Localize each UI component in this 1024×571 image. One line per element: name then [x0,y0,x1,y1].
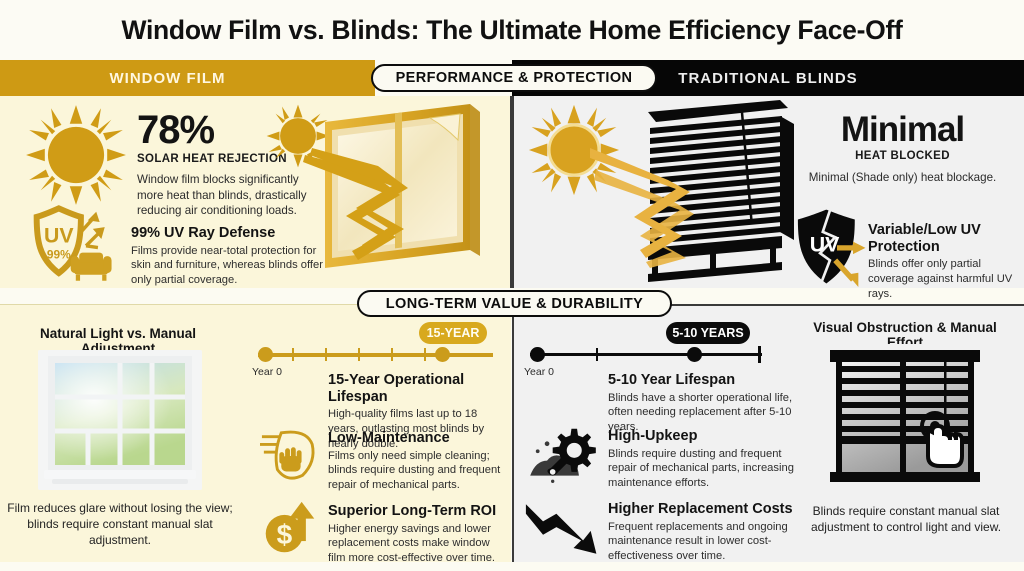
blinds-feature-1: 5-10 Year Lifespan Blinds have a shorter… [608,372,800,435]
sun-icon-film-large [24,103,128,207]
dollar-up-arrow-icon: $ [262,500,318,556]
film-timeline-start-label: Year 0 [252,366,282,378]
blinds-photo-caption: Blinds require constant manual slat adju… [800,503,1012,535]
blinds-manual-photo [820,344,990,494]
gear-wrench-dust-icon [528,425,598,485]
film-feature-1-title: 15-Year Operational Lifespan [328,372,503,405]
page-title: Window Film vs. Blinds: The Ultimate Hom… [122,15,903,46]
film-feature-3: Superior Long-Term ROI Higher energy sav… [328,503,503,566]
svg-text:UV: UV [44,223,74,247]
down-trend-arrow-icon [524,500,604,558]
page-title-bar: Window Film vs. Blinds: The Ultimate Hom… [0,0,1024,60]
film-timeline: Year 0 15-YEAR [258,340,493,370]
film-uv-block: 99% UV Ray Defense Films provide near-to… [131,225,331,288]
top-vertical-divider [510,96,512,288]
band-window-film: WINDOW FILM [0,60,375,96]
blinds-uv-body: Blinds offer only partial coverage again… [868,257,1018,301]
film-timeline-badge: 15-YEAR [419,322,487,344]
blinds-uv-title: Variable/Low UV Protection [868,222,1018,255]
svg-text:99%: 99% [47,248,71,262]
blinds-stat-body: Minimal (Shade only) heat blockage. [795,170,1010,186]
pill-performance-protection: PERFORMANCE & PROTECTION [371,64,657,92]
blinds-sun-rays [590,140,750,270]
blinds-feature-1-title: 5-10 Year Lifespan [608,372,800,389]
blinds-timeline: Year 0 5-10 YEARS [530,340,762,370]
blinds-stat-label: HEAT BLOCKED [795,150,1010,162]
band-window-film-label: WINDOW FILM [110,70,226,87]
uv-shield-icon-film: UV 99% [26,205,112,285]
film-feature-2-body: Films only need simple cleaning; blinds … [328,449,503,493]
film-stat-body: Window film blocks significantly more he… [137,172,325,219]
film-photo-caption: Film reduces glare without losing the vi… [6,500,234,549]
blinds-uv-block: Variable/Low UV Protection Blinds offer … [868,222,1018,302]
film-uv-title: 99% UV Ray Defense [131,225,331,242]
film-uv-body: Films provide near-total protection for … [131,244,331,288]
blinds-feature-3: Higher Replacement Costs Frequent replac… [608,501,798,564]
blinds-feature-2-title: High-Upkeep [608,428,798,445]
film-feature-3-body: Higher energy savings and lower replacem… [328,522,503,566]
blinds-timeline-start-label: Year 0 [524,366,554,378]
film-feature-2: Low-Maintenance Films only need simple c… [328,430,503,493]
blinds-feature-2-body: Blinds require dusting and frequent repa… [608,447,798,491]
band-traditional-blinds-label: TRADITIONAL BLINDS [678,70,857,87]
blinds-feature-3-title: Higher Replacement Costs [608,501,798,518]
pill-longterm-value: LONG-TERM VALUE & DURABILITY [357,290,672,317]
film-feature-3-title: Superior Long-Term ROI [328,503,503,520]
blinds-stat-number: Minimal [795,112,1010,147]
infographic-root: Window Film vs. Blinds: The Ultimate Hom… [0,0,1024,571]
film-feature-2-title: Low-Maintenance [328,430,503,447]
blinds-feature-3-body: Frequent replacements and ongoing mainte… [608,520,798,564]
blinds-stat-block: Minimal HEAT BLOCKED Minimal (Shade only… [795,112,1010,186]
blinds-feature-2: High-Upkeep Blinds require dusting and f… [608,428,798,491]
uv-shield-icon-blinds: UV [790,207,868,287]
svg-text:$: $ [277,519,293,550]
blinds-timeline-badge: 5-10 YEARS [666,322,750,344]
window-photo [38,350,202,490]
cleaning-cloth-icon [260,427,318,485]
svg-text:UV: UV [810,232,840,256]
